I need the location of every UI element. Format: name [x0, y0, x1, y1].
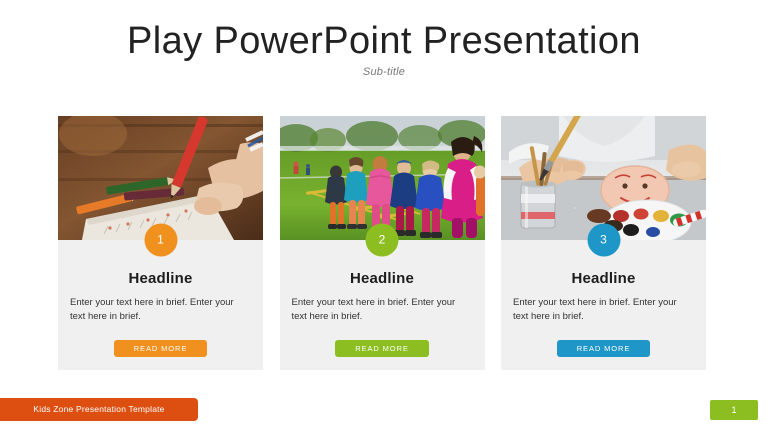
card-photo-3	[501, 116, 706, 240]
card-body-1: Headline Enter your text here in brief. …	[58, 240, 263, 357]
footer-template-tag: Kids Zone Presentation Template	[0, 398, 198, 421]
card-photo-2	[280, 116, 485, 240]
read-more-button-3[interactable]: READ MORE	[557, 340, 651, 357]
card-headline-2: Headline	[280, 270, 485, 287]
card-headline-3: Headline	[501, 270, 706, 287]
read-more-button-1[interactable]: READ MORE	[114, 340, 208, 357]
card-blurb-3: Enter your text here in brief. Enter you…	[513, 296, 694, 324]
children-playing-outdoors-on-grass-icon	[280, 116, 485, 240]
page-title: Play PowerPoint Presentation	[0, 19, 768, 63]
card-badge-1: 1	[144, 224, 177, 257]
feature-card-2[interactable]: 2 Headline Enter your text here in brief…	[280, 116, 485, 370]
card-badge-3: 3	[587, 224, 620, 257]
card-body-3: Headline Enter your text here in brief. …	[501, 240, 706, 357]
card-photo-1	[58, 116, 263, 240]
child-painting-with-brush-and-palette-icon	[501, 116, 706, 240]
page-number-badge: 1	[710, 400, 758, 420]
child-drawing-with-colored-pencils-icon	[58, 116, 263, 240]
feature-card-1[interactable]: 1 Headline Enter your text here in brief…	[58, 116, 263, 370]
card-row: 1 Headline Enter your text here in brief…	[58, 116, 706, 370]
card-body-2: Headline Enter your text here in brief. …	[280, 240, 485, 357]
page-subtitle: Sub-title	[0, 66, 768, 78]
card-headline-1: Headline	[58, 270, 263, 287]
card-badge-2: 2	[366, 224, 399, 257]
card-blurb-2: Enter your text here in brief. Enter you…	[292, 296, 473, 324]
read-more-button-2[interactable]: READ MORE	[335, 340, 429, 357]
presentation-slide: Play PowerPoint Presentation Sub-title	[0, 0, 768, 432]
feature-card-3[interactable]: 3 Headline Enter your text here in brief…	[501, 116, 706, 370]
card-blurb-1: Enter your text here in brief. Enter you…	[70, 296, 251, 324]
